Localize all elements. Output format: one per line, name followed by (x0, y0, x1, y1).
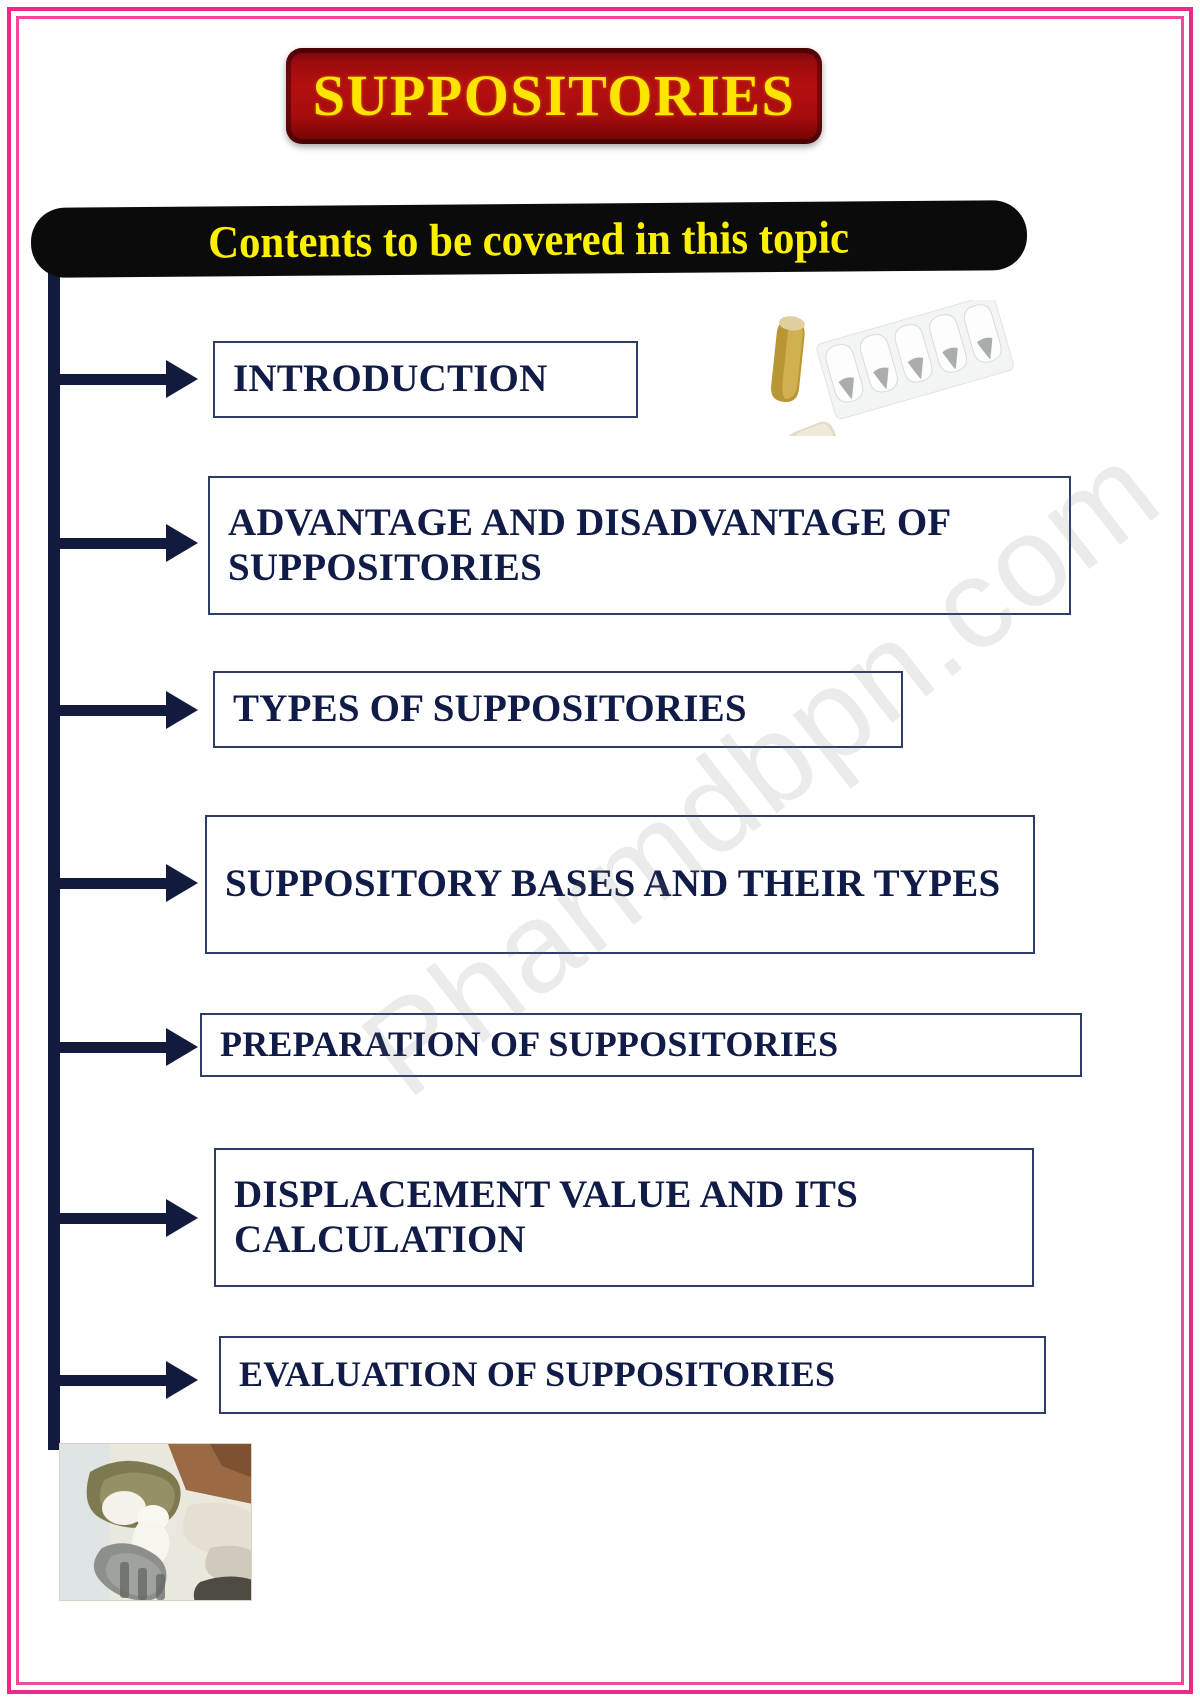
flowchart-box-types[interactable]: TYPES OF SUPPOSITORIES (213, 671, 903, 748)
connector-line-3 (54, 705, 176, 716)
page-title-banner: SUPPOSITORIES (286, 48, 822, 144)
connector-line-7 (54, 1375, 176, 1386)
contents-header-label: Contents to be covered in this topic (208, 210, 849, 268)
flowchart-box-advantage-disadvantage[interactable]: ADVANTAGE AND DISADVANTAGE OF SUPPOSITOR… (208, 476, 1071, 615)
suppository-moulding-photo (59, 1443, 252, 1601)
connector-line-6 (54, 1213, 176, 1224)
connector-line-1 (54, 374, 176, 385)
flowchart-box-label: INTRODUCTION (215, 357, 561, 402)
flowchart-box-evaluation[interactable]: EVALUATION OF SUPPOSITORIES (219, 1336, 1046, 1414)
flowchart-box-label: PREPARATION OF SUPPOSITORIES (202, 1024, 852, 1065)
flowchart-box-label: SUPPOSITORY BASES AND THEIR TYPES (207, 862, 1014, 907)
flowchart-box-label: EVALUATION OF SUPPOSITORIES (221, 1354, 849, 1395)
flowchart-box-label: TYPES OF SUPPOSITORIES (215, 687, 761, 732)
arrow-icon-4 (166, 864, 198, 902)
flowchart-trunk-line (48, 272, 60, 1450)
flowchart-box-bases[interactable]: SUPPOSITORY BASES AND THEIR TYPES (205, 815, 1035, 954)
arrow-icon-6 (166, 1199, 198, 1237)
flowchart-box-introduction[interactable]: INTRODUCTION (213, 341, 638, 418)
arrow-icon-5 (166, 1028, 198, 1066)
flowchart-box-label: ADVANTAGE AND DISADVANTAGE OF SUPPOSITOR… (210, 501, 1069, 591)
contents-header-bar: Contents to be covered in this topic (31, 200, 1028, 278)
connector-line-2 (54, 538, 176, 549)
connector-line-4 (54, 878, 176, 889)
connector-line-5 (54, 1042, 176, 1053)
arrow-icon-7 (166, 1361, 198, 1399)
flowchart-box-label: DISPLACEMENT VALUE AND ITS CALCULATION (216, 1173, 1032, 1263)
suppository-capsules-photo (766, 300, 1016, 436)
arrow-icon-3 (166, 691, 198, 729)
flowchart-box-preparation[interactable]: PREPARATION OF SUPPOSITORIES (200, 1013, 1082, 1077)
arrow-icon-1 (166, 360, 198, 398)
page-title: SUPPOSITORIES (313, 67, 796, 125)
page-canvas: Pharmdbpn.com SUPPOSITORIES Contents to … (0, 0, 1200, 1701)
flowchart-box-displacement-value[interactable]: DISPLACEMENT VALUE AND ITS CALCULATION (214, 1148, 1034, 1287)
arrow-icon-2 (166, 524, 198, 562)
